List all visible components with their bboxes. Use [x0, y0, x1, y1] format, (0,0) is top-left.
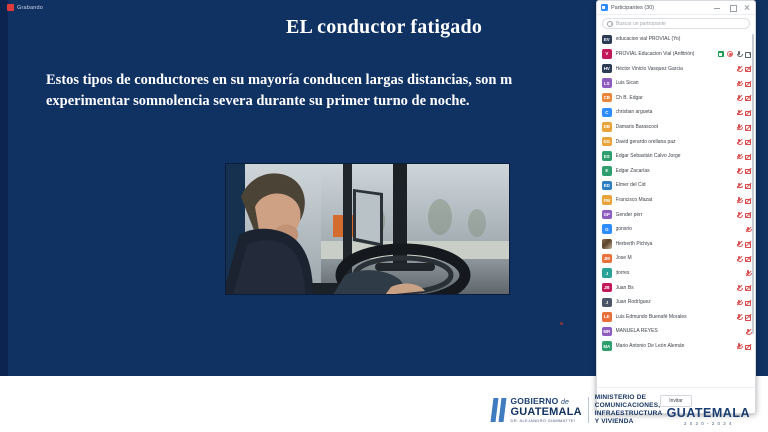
- participant-list[interactable]: EVeducacion vial PROVIAL (Yo)VPROVIAL Ed…: [597, 32, 755, 387]
- participant-status-icons: [736, 241, 751, 247]
- participant-row[interactable]: ESEdgar Sebastián Calvo Jorge: [597, 149, 755, 164]
- avatar: HV: [602, 64, 612, 74]
- guatemala-label: GUATEMALA: [511, 407, 582, 418]
- participant-status-icons: [736, 299, 751, 305]
- camera-off-icon[interactable]: [745, 241, 751, 247]
- slash-icon: [736, 139, 742, 145]
- avatar: EV: [602, 35, 612, 45]
- participant-status-icons: [745, 226, 751, 232]
- slash-icon: [736, 124, 742, 130]
- avatar: DB: [602, 122, 612, 132]
- logo-divider: [588, 397, 589, 423]
- truck-driver-photo: [225, 163, 510, 295]
- slide-left-strip: [0, 0, 8, 376]
- avatar: CB: [602, 93, 612, 103]
- slash-icon: [736, 299, 742, 305]
- participant-name: David gerardo orellana paz: [616, 139, 733, 145]
- participant-row[interactable]: EDElmer del Cid: [597, 178, 755, 193]
- participant-status-icons: [736, 168, 751, 174]
- mic-muted-icon[interactable]: [736, 80, 742, 86]
- participant-name: Edgar Zacarías: [616, 168, 733, 174]
- mic-muted-icon[interactable]: [736, 314, 742, 320]
- participant-name: christian argueta: [616, 109, 733, 115]
- slash-icon: [736, 66, 742, 72]
- avatar: C: [602, 108, 612, 118]
- recording-dot-icon: [7, 4, 14, 11]
- participant-row[interactable]: FMFrancisco Mazat: [597, 193, 755, 208]
- slash-icon: [745, 197, 751, 203]
- participant-row[interactable]: Jjtorres: [597, 266, 755, 281]
- participant-status-icons: [718, 51, 751, 57]
- search-input[interactable]: Buscar un participante: [602, 18, 750, 29]
- mic-icon[interactable]: [736, 51, 742, 57]
- panel-title: Participantes (30): [611, 5, 654, 11]
- participant-status-icons: [736, 124, 751, 130]
- slash-icon: [745, 182, 751, 188]
- avatar: MA: [602, 341, 612, 351]
- list-scrollbar[interactable]: [752, 34, 755, 334]
- camera-off-icon[interactable]: [745, 80, 751, 86]
- participants-panel: Participantes (30) Buscar un participant…: [596, 0, 756, 414]
- slash-icon: [745, 168, 751, 174]
- avatar: J: [602, 268, 612, 278]
- mic-muted-icon[interactable]: [736, 182, 742, 188]
- camera-off-icon[interactable]: [745, 212, 751, 218]
- participant-name: Ch B. Edgar: [616, 95, 733, 101]
- ministerio-line-3: INFRAESTRUCTURA: [595, 410, 663, 418]
- zoom-app-icon: [601, 4, 608, 11]
- camera-off-icon[interactable]: [745, 285, 751, 291]
- window-controls: [714, 5, 752, 11]
- mic-muted-icon[interactable]: [736, 299, 742, 305]
- participant-name: MANUELA REYES: [616, 328, 742, 334]
- recording-indicator: Grabando: [7, 4, 43, 11]
- flag-bars-icon: [492, 398, 505, 422]
- mic-muted-icon[interactable]: [745, 270, 751, 276]
- participant-status-icons: [745, 270, 751, 276]
- slash-icon: [745, 66, 751, 72]
- participant-name: Herberth Pichiya: [616, 241, 733, 247]
- slash-icon: [745, 95, 751, 101]
- panel-titlebar[interactable]: Participantes (30): [597, 1, 755, 15]
- participant-status-icons: [736, 255, 751, 261]
- mic-muted-icon[interactable]: [736, 241, 742, 247]
- camera-off-icon[interactable]: [745, 95, 751, 101]
- avatar: ED: [602, 181, 612, 191]
- gobierno-label: GOBIERNO: [511, 396, 559, 406]
- participant-row[interactable]: JJuan Rodríguez: [597, 295, 755, 310]
- mic-muted-icon[interactable]: [736, 153, 742, 159]
- slash-icon: [736, 168, 742, 174]
- truck-driver-illustration: [225, 163, 510, 295]
- camera-off-icon[interactable]: [745, 343, 751, 349]
- president-label: DR. ALEJANDRO GIAMMATTEI: [511, 419, 582, 423]
- camera-off-icon[interactable]: [745, 139, 751, 145]
- slash-icon: [745, 256, 751, 262]
- slash-icon: [736, 256, 742, 262]
- participant-row[interactable]: LELuis Edmundo Buenafé Morales: [597, 310, 755, 325]
- participant-name: Héctor Vinicio Vasquez Garcia: [616, 66, 733, 72]
- participant-status-icons: [736, 212, 751, 218]
- participant-row[interactable]: LSLuis Sican: [597, 76, 755, 91]
- participant-status-icons: [736, 66, 751, 72]
- avatar: JB: [602, 283, 612, 293]
- participant-row[interactable]: Herberth Pichiya: [597, 237, 755, 252]
- ministerio-line-4: Y VIVIENDA: [595, 418, 663, 426]
- slash-icon: [736, 153, 742, 159]
- participant-name: Francisco Mazat: [616, 197, 733, 203]
- mic-muted-icon[interactable]: [736, 66, 742, 72]
- participant-row[interactable]: Ggonsrio: [597, 222, 755, 237]
- participant-row[interactable]: VPROVIAL Educacion Vial (Anfitrión): [597, 47, 755, 62]
- slash-icon: [736, 241, 742, 247]
- gobierno-de-guatemala-logo: GOBIERNO de GUATEMALA DR. ALEJANDRO GIAM…: [511, 397, 582, 424]
- participant-status-icons: [745, 328, 751, 334]
- slash-icon: [745, 270, 751, 276]
- ministerio-logo: MINISTERIO DE COMUNICACIONES, INFRAESTRU…: [595, 394, 663, 427]
- avatar: FM: [602, 195, 612, 205]
- slash-icon: [745, 314, 751, 320]
- avatar: G: [602, 224, 612, 234]
- camera-off-icon[interactable]: [745, 299, 751, 305]
- ministerio-line-1: MINISTERIO DE: [595, 394, 663, 402]
- minimize-icon[interactable]: [714, 5, 720, 11]
- mic-muted-icon[interactable]: [736, 197, 742, 203]
- participant-name: Elmer del Cid: [616, 182, 733, 188]
- participant-status-icons: [736, 285, 751, 291]
- watermark-line-2: 2 0 2 0 - 2 0 2 4: [667, 422, 750, 427]
- participant-row[interactable]: MAMario Antonio De León Alemán: [597, 339, 755, 354]
- mic-muted-icon[interactable]: [736, 343, 742, 349]
- mic-muted-icon[interactable]: [736, 124, 742, 130]
- participant-status-icons: [736, 95, 751, 101]
- participant-name: Juan Bs: [616, 285, 733, 291]
- avatar: MR: [602, 327, 612, 337]
- invite-button[interactable]: Invitar: [660, 395, 692, 407]
- slash-icon: [736, 314, 742, 320]
- slash-icon: [745, 153, 751, 159]
- participant-name: Luis Edmundo Buenafé Morales: [616, 314, 733, 320]
- participant-name: gonsrio: [616, 226, 742, 232]
- slash-icon: [745, 139, 751, 145]
- participant-name: Mario Antonio De León Alemán: [616, 343, 733, 349]
- ministerio-line-2: COMUNICACIONES,: [595, 402, 663, 410]
- guatemala-watermark-logo: GUATEMALA 2 0 2 0 - 2 0 2 4: [667, 407, 750, 426]
- avatar: J: [602, 298, 612, 308]
- mic-muted-icon[interactable]: [736, 168, 742, 174]
- close-icon[interactable]: [744, 5, 750, 11]
- participant-name: jtorres: [616, 270, 742, 276]
- avatar: [602, 239, 612, 249]
- slash-icon: [745, 329, 751, 335]
- slash-icon: [745, 226, 751, 232]
- avatar: LE: [602, 312, 612, 322]
- camera-off-icon[interactable]: [745, 66, 751, 72]
- participant-status-icons: [736, 343, 751, 349]
- camera-off-icon[interactable]: [745, 168, 751, 174]
- camera-off-icon[interactable]: [745, 255, 751, 261]
- participant-name: Gender pérr: [616, 212, 733, 218]
- slash-icon: [736, 182, 742, 188]
- participant-status-icons: [736, 80, 751, 86]
- recording-label: Grabando: [17, 5, 43, 11]
- participant-row[interactable]: JMJose M: [597, 251, 755, 266]
- camera-off-icon[interactable]: [745, 124, 751, 130]
- maximize-icon[interactable]: [729, 5, 735, 11]
- screen-share-badge-icon[interactable]: [718, 51, 724, 57]
- mic-muted-icon[interactable]: [736, 255, 742, 261]
- participant-status-icons: [736, 182, 751, 188]
- slash-icon: [745, 212, 751, 218]
- avatar: E: [602, 166, 612, 176]
- slash-icon: [745, 241, 751, 247]
- slash-icon: [745, 299, 751, 305]
- participant-row[interactable]: EEdgar Zacarías: [597, 163, 755, 178]
- government-logo-group: GOBIERNO de GUATEMALA DR. ALEJANDRO GIAM…: [492, 394, 662, 427]
- participant-status-icons: [736, 139, 751, 145]
- avatar: JM: [602, 254, 612, 264]
- slash-icon: [745, 124, 751, 130]
- mic-muted-icon[interactable]: [745, 226, 751, 232]
- participant-name: Luis Sican: [616, 80, 733, 86]
- participant-row[interactable]: DGDavid gerardo orellana paz: [597, 134, 755, 149]
- camera-off-icon[interactable]: [745, 197, 751, 203]
- search-placeholder: Buscar un participante: [616, 21, 666, 27]
- slash-icon: [745, 343, 751, 349]
- participant-row[interactable]: JBJuan Bs: [597, 280, 755, 295]
- camera-off-icon[interactable]: [745, 182, 751, 188]
- participant-name: PROVIAL Educacion Vial (Anfitrión): [616, 51, 715, 57]
- participant-status-icons: [736, 197, 751, 203]
- cursor-dot: [560, 322, 563, 325]
- camera-off-icon[interactable]: [745, 109, 751, 115]
- camera-icon[interactable]: [745, 51, 751, 57]
- recording-badge-icon[interactable]: [727, 51, 733, 57]
- avatar: LS: [602, 78, 612, 88]
- participant-status-icons: [736, 153, 751, 159]
- screen-root: Grabando EL conductor fatigado Estos tip…: [0, 0, 768, 432]
- camera-off-icon[interactable]: [745, 314, 751, 320]
- participant-row[interactable]: CBCh B. Edgar: [597, 90, 755, 105]
- slash-icon: [745, 109, 751, 115]
- avatar: V: [602, 49, 612, 59]
- participant-status-icons: [736, 109, 751, 115]
- slash-icon: [736, 197, 742, 203]
- gobierno-de-label: de: [561, 399, 569, 406]
- slash-icon: [736, 80, 742, 86]
- mic-muted-icon[interactable]: [736, 95, 742, 101]
- slash-icon: [736, 343, 742, 349]
- slash-icon: [736, 212, 742, 218]
- avatar: DG: [602, 137, 612, 147]
- slash-icon: [736, 109, 742, 115]
- slash-icon: [736, 285, 742, 291]
- participant-row[interactable]: EVeducacion vial PROVIAL (Yo): [597, 32, 755, 47]
- slash-icon: [745, 285, 751, 291]
- participant-name: educacion vial PROVIAL (Yo): [616, 36, 748, 42]
- mic-muted-icon[interactable]: [736, 139, 742, 145]
- avatar: GP: [602, 210, 612, 220]
- search-icon: [607, 21, 613, 27]
- participant-name: Edgar Sebastián Calvo Jorge: [616, 153, 733, 159]
- participant-row[interactable]: Cchristian argueta: [597, 105, 755, 120]
- mic-muted-icon[interactable]: [745, 328, 751, 334]
- mic-muted-icon[interactable]: [736, 109, 742, 115]
- avatar: ES: [602, 151, 612, 161]
- participant-row[interactable]: GPGender pérr: [597, 207, 755, 222]
- participant-row[interactable]: HVHéctor Vinicio Vasquez Garcia: [597, 61, 755, 76]
- watermark-line-1: GUATEMALA: [667, 407, 750, 420]
- participant-name: Damaris Barascoot: [616, 124, 733, 130]
- participant-name: Jose M: [616, 255, 733, 261]
- search-section: Buscar un participante: [597, 15, 755, 32]
- participant-status-icons: [736, 314, 751, 320]
- participant-name: Juan Rodríguez: [616, 299, 733, 305]
- participant-row[interactable]: DBDamaris Barascoot: [597, 120, 755, 135]
- participant-row[interactable]: MRMANUELA REYES: [597, 324, 755, 339]
- slash-icon: [736, 95, 742, 101]
- slash-icon: [745, 80, 751, 86]
- camera-off-icon[interactable]: [745, 153, 751, 159]
- mic-muted-icon[interactable]: [736, 285, 742, 291]
- mic-muted-icon[interactable]: [736, 212, 742, 218]
